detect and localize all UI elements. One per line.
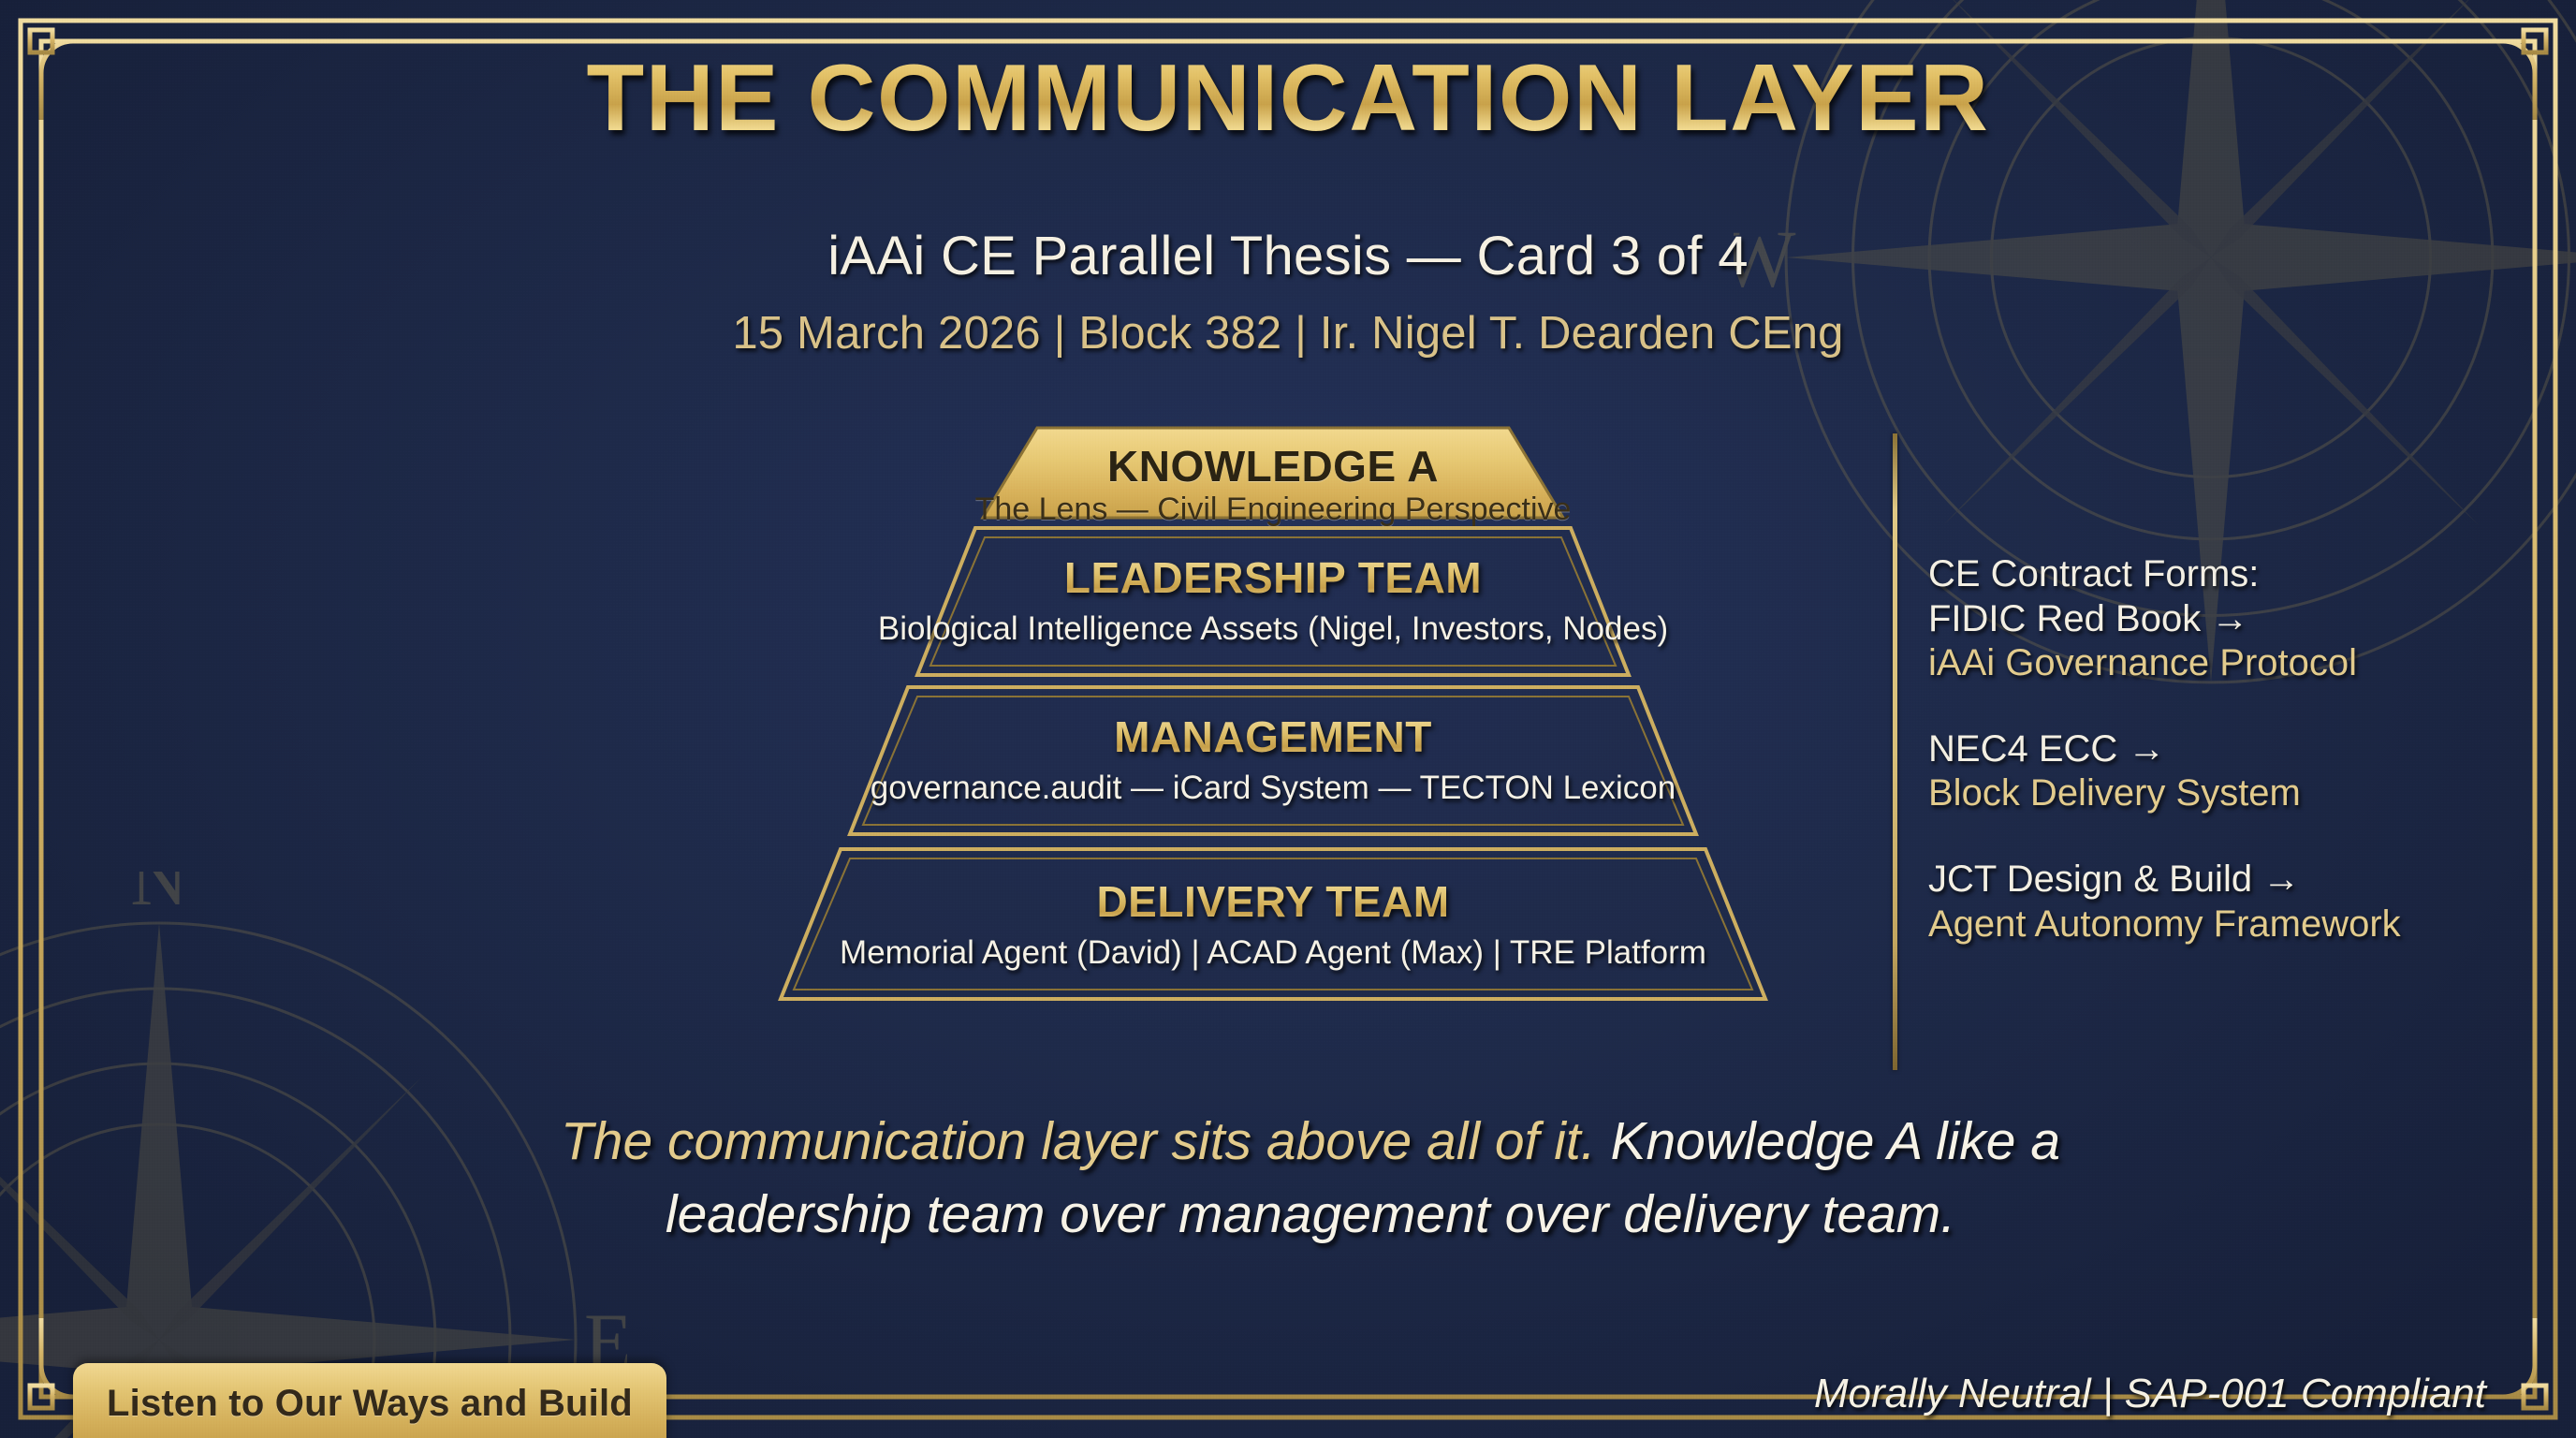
subtitle: iAAi CE Parallel Thesis — Card 3 of 4 <box>0 225 2576 287</box>
tier-title: LEADERSHIP TEAM <box>683 552 1863 603</box>
tagline-text: Listen to Our Ways and Build <box>107 1383 633 1425</box>
meta-line: 15 March 2026 | Block 382 | Ir. Nigel T.… <box>0 307 2576 359</box>
contract-item[interactable]: JCT Design & Build → Agent Autonomy Fram… <box>1928 858 2527 946</box>
pull-quote: The communication layer sits above all o… <box>524 1105 2097 1251</box>
tagline-badge[interactable]: Listen to Our Ways and Build <box>73 1363 666 1438</box>
compass-label-north: N <box>130 872 187 922</box>
contracts-heading: CE Contract Forms: <box>1928 552 2527 597</box>
contract-item[interactable]: CE Contract Forms: FIDIC Red Book → iAAi… <box>1928 552 2527 686</box>
quote-part-one: The communication layer sits above all o… <box>561 1111 1611 1171</box>
hierarchy-pyramid: KNOWLEDGE A The Lens — Civil Engineering… <box>683 426 1863 1081</box>
pyramid-tier-delivery-team[interactable]: DELIVERY TEAM Memorial Agent (David) | A… <box>683 845 1863 1003</box>
pyramid-tier-knowledge-a[interactable]: KNOWLEDGE A The Lens — Civil Engineering… <box>683 426 1863 520</box>
tier-title: KNOWLEDGE A <box>683 441 1863 492</box>
contract-form-name: JCT Design & Build → <box>1928 858 2527 902</box>
vertical-divider <box>1893 433 1897 1070</box>
contract-mapping: iAAi Governance Protocol <box>1928 641 2527 686</box>
tier-subtitle: The Lens — Civil Engineering Perspective <box>683 492 1863 528</box>
title-band: THE COMMUNICATION LAYER <box>41 21 2535 200</box>
tier-title: MANAGEMENT <box>683 712 1863 762</box>
page-title: THE COMMUNICATION LAYER <box>41 45 2535 153</box>
contract-form-name: NEC4 ECC → <box>1928 727 2527 772</box>
contract-mapping: Block Delivery System <box>1928 771 2527 816</box>
pyramid-tier-leadership-team[interactable]: LEADERSHIP TEAM Biological Intelligence … <box>683 524 1863 679</box>
presentation-card: N E W N <box>0 0 2576 1438</box>
pyramid-tier-management[interactable]: MANAGEMENT governance.audit — iCard Syst… <box>683 683 1863 838</box>
contract-mapping: Agent Autonomy Framework <box>1928 902 2527 947</box>
tier-title: DELIVERY TEAM <box>683 876 1863 927</box>
compliance-note: Morally Neutral | SAP-001 Compliant <box>1814 1371 2486 1417</box>
contract-item[interactable]: NEC4 ECC → Block Delivery System <box>1928 727 2527 816</box>
contract-forms-panel: CE Contract Forms: FIDIC Red Book → iAAi… <box>1928 552 2527 988</box>
tier-subtitle: governance.audit — iCard System — TECTON… <box>683 770 1863 807</box>
tier-subtitle: Memorial Agent (David) | ACAD Agent (Max… <box>683 934 1863 972</box>
contract-form-name: FIDIC Red Book → <box>1928 597 2527 642</box>
tier-subtitle: Biological Intelligence Assets (Nigel, I… <box>683 610 1863 648</box>
